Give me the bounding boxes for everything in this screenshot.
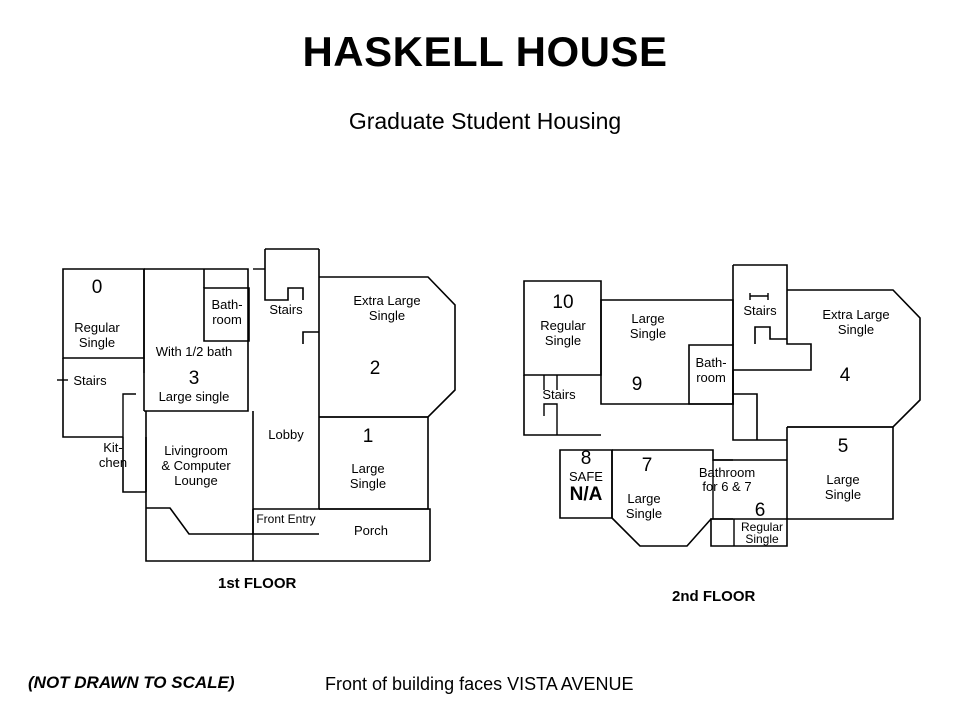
floor2-bathroom: Bath- room	[689, 345, 733, 404]
not-to-scale-note: (NOT DRAWN TO SCALE)	[28, 673, 235, 693]
floor2-stairs-mid-label: Stairs	[743, 303, 777, 318]
floor2-stairs-mid: Stairs	[733, 265, 811, 370]
floor2-bathroom-line2: room	[696, 370, 726, 385]
floor2-room-5: 5 Large Single	[733, 370, 893, 519]
room-7-label-line1: Large	[627, 491, 660, 506]
room-7-number: 7	[642, 455, 653, 476]
floor2-stairs-left: Stairs	[524, 375, 601, 435]
room-7-label-line2: Single	[626, 506, 662, 521]
floor2-bathroom-line1: Bath-	[695, 355, 726, 370]
floor2-stairs-left-label: Stairs	[542, 387, 576, 402]
floor2-plan: 10 Regular Single Stairs Large Single 9 …	[0, 0, 960, 580]
room-9-number: 9	[632, 374, 643, 395]
room-9-label-line2: Single	[630, 326, 666, 341]
room-9-label-line1: Large	[631, 311, 664, 326]
bathroom-67-line1: Bathroom	[699, 465, 755, 480]
floor2-room-9: Large Single 9	[601, 300, 733, 404]
room-4-label-line1: Extra Large	[822, 307, 889, 322]
room-4-number: 4	[840, 365, 851, 386]
room-5-label-line2: Single	[825, 487, 861, 502]
floor2-room-8: 8 SAFE N/A	[560, 448, 612, 518]
room-5-label-line1: Large	[826, 472, 859, 487]
room-8-na-label: N/A	[570, 484, 603, 505]
street-facing-note: Front of building faces VISTA AVENUE	[325, 674, 633, 695]
room-8-safe-label: SAFE	[569, 469, 603, 484]
bathroom-67-line2: for 6 & 7	[702, 479, 751, 494]
floor2-bathroom-67: Bathroom for 6 & 7	[699, 460, 787, 519]
floor2-room-4: Extra Large Single 4	[787, 290, 920, 427]
floor1-caption: 1st FLOOR	[218, 575, 296, 592]
floor2-caption: 2nd FLOOR	[672, 588, 755, 605]
room-6-number: 6	[755, 500, 766, 521]
room-4-label-line2: Single	[838, 322, 874, 337]
room-10-label-line2: Single	[545, 333, 581, 348]
room-10-number: 10	[552, 292, 573, 313]
room-5-number: 5	[838, 436, 849, 457]
floorplan-page: HASKELL HOUSE Graduate Student Housing 0…	[0, 0, 970, 717]
floor2-room-10: 10 Regular Single	[524, 281, 601, 375]
room-6-label-line2: Single	[745, 532, 779, 546]
room-10-label-line1: Regular	[540, 318, 586, 333]
room-8-number: 8	[581, 448, 592, 469]
floor2-room-6: 6 Regular Single	[711, 500, 787, 546]
